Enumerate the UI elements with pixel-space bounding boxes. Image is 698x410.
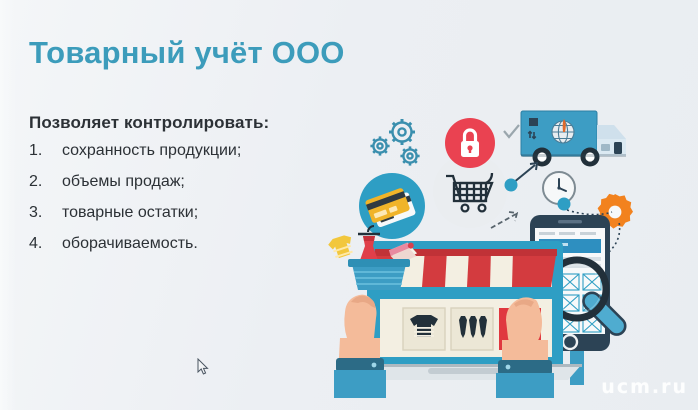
list-item-number: 3. [29,204,62,222]
slide-canvas: Товарный учёт ООО Позволяет контролирова… [0,0,698,410]
clock-icon [543,172,575,204]
list-item: 4. оборачиваемость. [29,235,349,266]
list-item-label: сохранность продукции; [62,142,241,160]
ties-icon [459,316,487,338]
watermark: ucm.ru [601,376,688,398]
delivery-truck-icon [521,111,626,167]
page-title: Товарный учёт ООО [29,35,345,71]
list-item-label: объемы продаж; [62,173,185,191]
mouse-cursor [197,358,209,376]
arrow-icon [505,163,538,192]
list-item: 2. объемы продаж; [29,173,349,204]
arc-dot [558,198,571,211]
list-item-number: 1. [29,142,62,160]
list-item-label: оборачиваемость. [62,235,198,253]
list-item-label: товарные остатки; [62,204,198,222]
benefits-list: 1. сохранность продукции; 2. объемы прод… [29,142,349,266]
list-item: 3. товарные остатки; [29,204,349,235]
list-item-number: 4. [29,235,62,253]
gears-icon [370,119,419,166]
ecommerce-illustration [318,88,698,398]
lock-badge-icon [445,118,495,168]
list-item-number: 2. [29,173,62,191]
list-item: 1. сохранность продукции; [29,142,349,173]
section-subtitle: Позволяет контролировать: [29,113,269,133]
check-icon [504,125,519,137]
